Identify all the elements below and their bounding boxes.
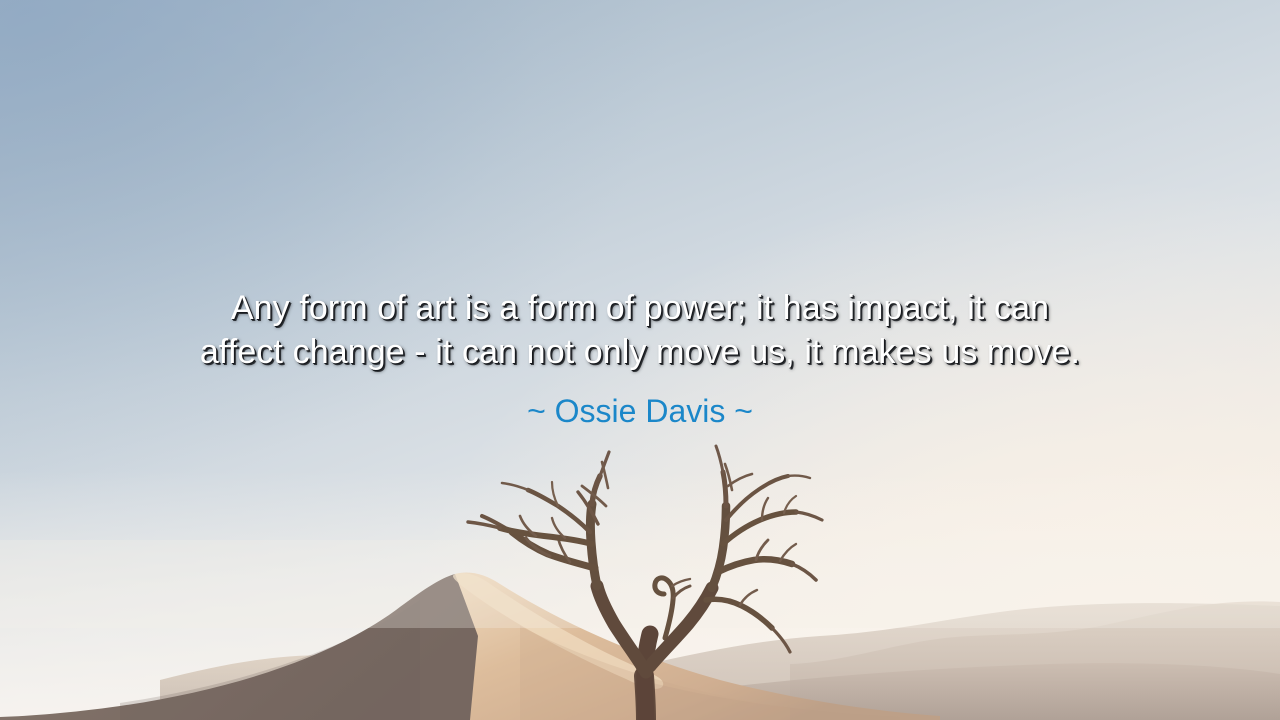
quote-attribution: ~ Ossie Davis ~ xyxy=(0,392,1280,430)
dead-tree-silhouette xyxy=(440,428,860,720)
quote-text-block: Any form of art is a form of power; it h… xyxy=(0,286,1280,430)
quote-image-scene: Any form of art is a form of power; it h… xyxy=(0,0,1280,720)
quote-line-2: affect change - it can not only move us,… xyxy=(0,330,1280,374)
quote-line-1: Any form of art is a form of power; it h… xyxy=(0,286,1280,330)
